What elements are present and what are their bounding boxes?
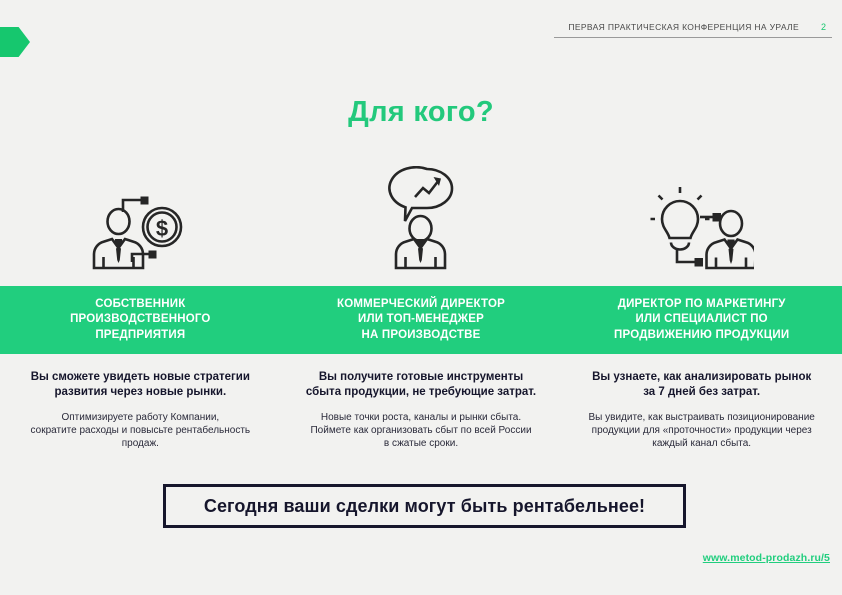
benefit-headline: Вы сможете увидеть новые стратегии разви… bbox=[12, 370, 269, 399]
benefit-description-line: продукции для «проточности» продукции че… bbox=[573, 424, 830, 437]
band-line: ИЛИ ТОП-МЕНЕДЖЕР bbox=[289, 312, 554, 328]
benefit-description-line: в сжатые сроки. bbox=[293, 437, 550, 450]
benefit-description-line: продаж. bbox=[12, 437, 269, 450]
benefit-description: Вы увидите, как выстраивать позициониров… bbox=[573, 411, 830, 450]
benefit-headline: Вы получите готовые инструменты сбыта пр… bbox=[293, 370, 550, 399]
band-line: ДИРЕКТОР ПО МАРКЕТИНГУ bbox=[569, 297, 834, 313]
band-line: ПРОИЗВОДСТВЕННОГО bbox=[8, 312, 273, 328]
benefit-description-line: каждый канал сбыта. bbox=[573, 437, 830, 450]
footer-website-link[interactable]: www.metod-prodazh.ru/5 bbox=[703, 552, 830, 564]
icon-cell-marketing-director bbox=[561, 155, 842, 270]
benefit-headline-line: развития через новые рынки. bbox=[12, 385, 269, 400]
benefit-headline-line: за 7 дней без затрат. bbox=[573, 385, 830, 400]
benefit-headline-line: Вы получите готовые инструменты bbox=[293, 370, 550, 385]
benefit-headline-line: Вы узнаете, как анализировать рынок bbox=[573, 370, 830, 385]
icon-cell-owner: $ bbox=[0, 155, 281, 270]
icons-row: $ bbox=[0, 155, 842, 270]
benefit-headline: Вы узнаете, как анализировать рынок за 7… bbox=[573, 370, 830, 399]
page-title: Для кого? bbox=[0, 96, 842, 129]
benefit-headline-line: сбыта продукции, не требующие затрат. bbox=[293, 385, 550, 400]
lightbulb-with-specialist-icon bbox=[650, 186, 754, 270]
header-divider bbox=[554, 37, 832, 38]
band-line: КОММЕРЧЕСКИЙ ДИРЕКТОР bbox=[289, 297, 554, 313]
benefit-description: Новые точки роста, каналы и рынки сбыта.… bbox=[293, 411, 550, 450]
band-role-marketing-director: ДИРЕКТОР ПО МАРКЕТИНГУ ИЛИ СПЕЦИАЛИСТ ПО… bbox=[561, 297, 842, 344]
benefit-description: Оптимизируете работу Компании, сократите… bbox=[12, 411, 269, 450]
benefit-cell-owner: Вы сможете увидеть новые стратегии разви… bbox=[0, 370, 281, 450]
band-role-commercial-director: КОММЕРЧЕСКИЙ ДИРЕКТОР ИЛИ ТОП-МЕНЕДЖЕР Н… bbox=[281, 297, 562, 344]
slide-header: ПЕРВАЯ ПРАКТИЧЕСКАЯ КОНФЕРЕНЦИЯ НА УРАЛЕ… bbox=[542, 22, 832, 38]
band-line: СОБСТВЕННИК bbox=[8, 297, 273, 313]
band-line: ИЛИ СПЕЦИАЛИСТ ПО bbox=[569, 312, 834, 328]
manager-with-growth-chart-bubble-icon bbox=[377, 166, 465, 270]
conference-title: ПЕРВАЯ ПРАКТИЧЕСКАЯ КОНФЕРЕНЦИЯ НА УРАЛЕ bbox=[568, 22, 799, 32]
slide: ПЕРВАЯ ПРАКТИЧЕСКАЯ КОНФЕРЕНЦИЯ НА УРАЛЕ… bbox=[0, 0, 842, 595]
businessman-with-dollar-coin-icon: $ bbox=[88, 190, 192, 270]
benefit-description-line: Оптимизируете работу Компании, bbox=[12, 411, 269, 424]
svg-text:$: $ bbox=[156, 216, 168, 241]
benefit-description-line: Поймете как организовать сбыт по всей Ро… bbox=[293, 424, 550, 437]
callout-box: Сегодня ваши сделки могут быть рентабель… bbox=[163, 484, 686, 528]
band-line: ПРЕДПРИЯТИЯ bbox=[8, 328, 273, 344]
benefit-description-line: сократите расходы и повысьте рентабельно… bbox=[12, 424, 269, 437]
callout-text: Сегодня ваши сделки могут быть рентабель… bbox=[204, 496, 645, 517]
benefit-headline-line: Вы сможете увидеть новые стратегии bbox=[12, 370, 269, 385]
band-role-owner: СОБСТВЕННИК ПРОИЗВОДСТВЕННОГО ПРЕДПРИЯТИ… bbox=[0, 297, 281, 344]
benefits-row: Вы сможете увидеть новые стратегии разви… bbox=[0, 370, 842, 450]
band-line: НА ПРОИЗВОДСТВЕ bbox=[289, 328, 554, 344]
icon-cell-commercial-director bbox=[281, 155, 562, 270]
audience-role-band: СОБСТВЕННИК ПРОИЗВОДСТВЕННОГО ПРЕДПРИЯТИ… bbox=[0, 286, 842, 354]
benefit-description-line: Вы увидите, как выстраивать позициониров… bbox=[573, 411, 830, 424]
benefit-description-line: Новые точки роста, каналы и рынки сбыта. bbox=[293, 411, 550, 424]
band-line: ПРОДВИЖЕНИЮ ПРОДУКЦИИ bbox=[569, 328, 834, 344]
green-arrow-decoration bbox=[0, 27, 30, 57]
benefit-cell-marketing-director: Вы узнаете, как анализировать рынок за 7… bbox=[561, 370, 842, 450]
benefit-cell-commercial-director: Вы получите готовые инструменты сбыта пр… bbox=[281, 370, 562, 450]
page-number: 2 bbox=[821, 22, 826, 32]
